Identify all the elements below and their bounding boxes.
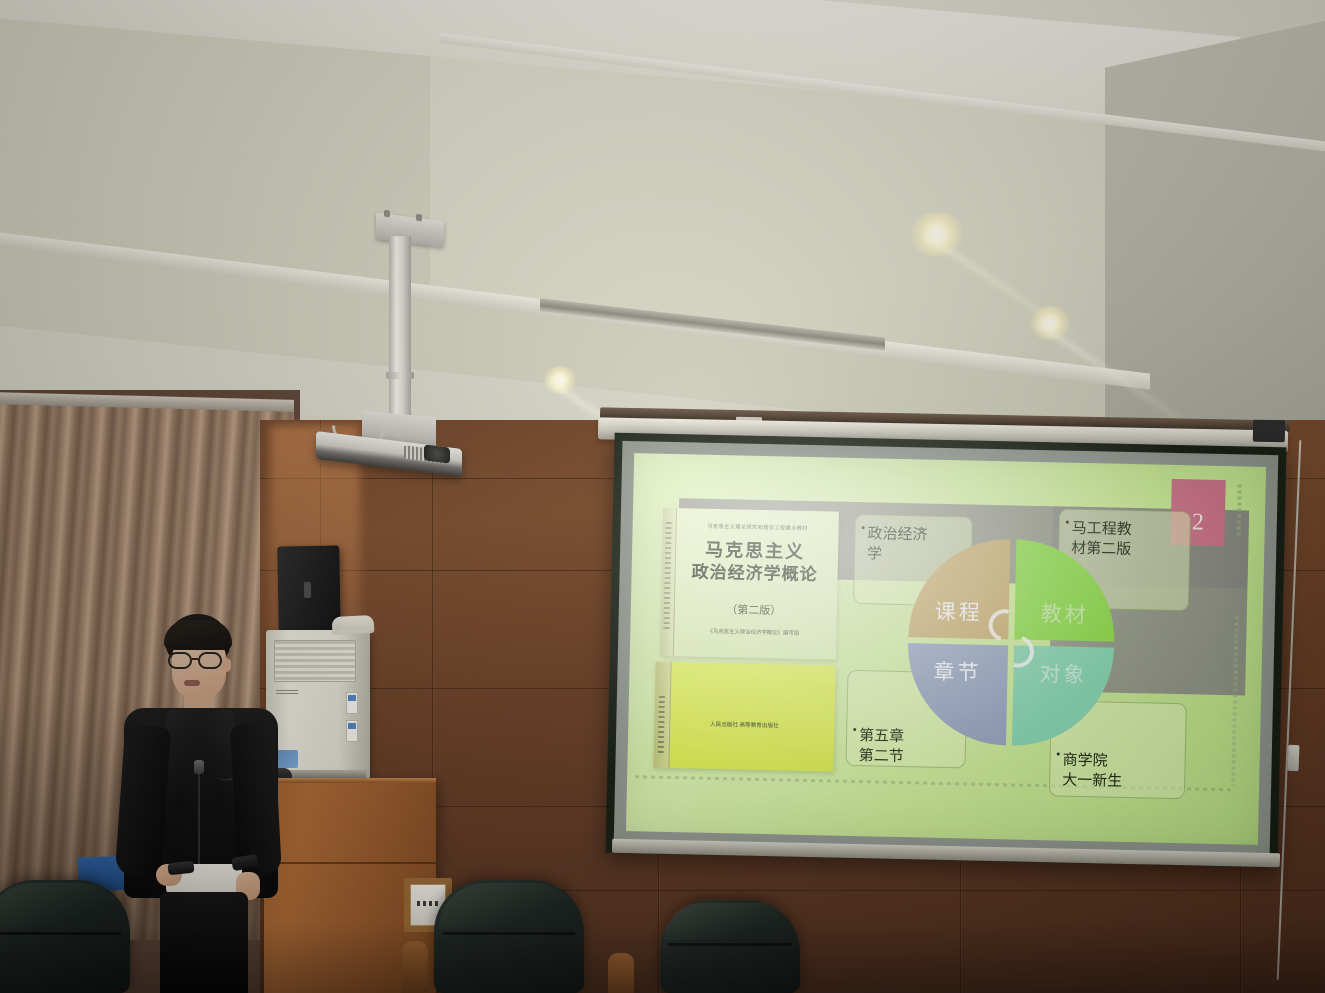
- podium-top-edge: [264, 778, 436, 783]
- callout-audience-line1: 商学院: [1062, 752, 1174, 774]
- ac-grille: [274, 640, 356, 682]
- chair-armrest-2: [608, 953, 634, 993]
- zipper-pull: [194, 760, 204, 774]
- book-back-cover-image: 人民出版社 高等教育出版社: [653, 662, 835, 772]
- ceiling-soffit-right: [1105, 12, 1325, 487]
- black-pants: [160, 892, 248, 993]
- chair-1[interactable]: [0, 880, 130, 993]
- book-title: 马克思主义 政治经济学概论: [679, 538, 830, 585]
- refresh-cycle-icon: [984, 615, 1039, 670]
- book-series-line: 马克思主义理论研究和建设工程重点教材: [687, 522, 829, 532]
- ceiling-light-2: [1028, 306, 1072, 340]
- bullet-icon: [1057, 752, 1060, 755]
- book-editor-line: 《马克思主义政治经济学概论》编写组: [678, 626, 828, 637]
- callout-audience-line2: 大一新生: [1062, 771, 1174, 793]
- projector-pole-collar: [386, 372, 414, 379]
- podium-seam: [264, 862, 436, 864]
- projector-mount-pole: [389, 236, 411, 422]
- ac-energy-sticker: [346, 692, 358, 714]
- projector-lens: [424, 444, 450, 463]
- chair-armrest: [402, 941, 428, 993]
- right-arm: [230, 723, 282, 877]
- bullet-icon: [853, 728, 856, 731]
- bullet-icon: [862, 526, 865, 529]
- book-cover-image: 马克思主义理论研究和建设工程重点教材 马克思主义 政治经济学概论 （第二版） 《…: [660, 508, 839, 660]
- book-spine: [660, 508, 677, 656]
- book-edition: （第二版）: [679, 600, 829, 619]
- screen-cord-grip[interactable]: [1288, 745, 1300, 771]
- ceiling-light-3: [542, 366, 578, 394]
- hair-front: [164, 620, 232, 650]
- chair-2[interactable]: [434, 880, 584, 993]
- callout-chapter-line2: 第二节: [858, 747, 954, 769]
- presenter: [118, 614, 284, 993]
- projection-screen: 2 马克思主义理论研究和建设工程重点教材 马克思主义 政治经济学概论 （第二版）…: [605, 433, 1286, 868]
- book-publishers: 人民出版社 高等教育出版社: [654, 720, 834, 733]
- ceiling-light-1: [908, 212, 966, 256]
- callout-textbook-line1: 马工程教: [1071, 520, 1179, 542]
- book-title-line2: 政治经济学概论: [679, 561, 829, 586]
- bullet-icon: [1066, 521, 1069, 524]
- four-quadrant-wheel: 课程 教材 章节 对象: [906, 537, 1116, 747]
- presentation-slide: 2 马克思主义理论研究和建设工程重点教材 马克思主义 政治经济学概论 （第二版）…: [626, 453, 1266, 845]
- lecture-hall-photo: 2 马克思主义理论研究和建设工程重点教材 马克思主义 政治经济学概论 （第二版）…: [0, 0, 1325, 993]
- eyeglasses-icon: [168, 652, 230, 669]
- book-back-spine: [653, 662, 671, 768]
- chair-3[interactable]: [660, 900, 800, 993]
- loudspeaker: [277, 545, 341, 634]
- book-title-line1: 马克思主义: [680, 538, 830, 564]
- mouth: [184, 680, 200, 686]
- plastic-bag: [332, 615, 375, 635]
- screen-right-bracket: [1253, 420, 1285, 443]
- ac-warning-sticker: [346, 720, 358, 742]
